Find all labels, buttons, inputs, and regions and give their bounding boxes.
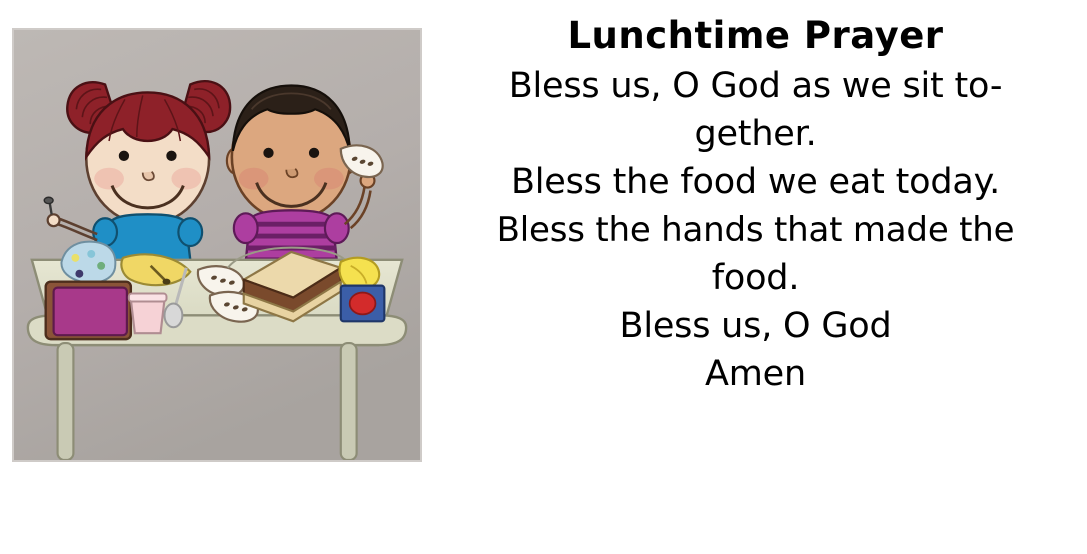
prayer-line: Bless us, O God as we sit to- [426,62,1085,110]
prayer-line: Bless the food we eat today. [426,158,1085,206]
prayer-line: Amen [426,350,1085,398]
prayer-line: Bless us, O God [426,302,1085,350]
two-children-at-lunch-table-illustration [14,30,420,460]
prayer-text-column: Lunchtime Prayer Bless us, O God as we s… [424,0,1087,554]
prayer-line: food. [426,254,1085,302]
prayer-lines: Bless us, O God as we sit to- gether. Bl… [426,62,1085,398]
page-title: Lunchtime Prayer [426,14,1085,58]
illustration-panel [12,28,422,462]
prayer-line: gether. [426,110,1085,158]
prayer-line: Bless the hands that made the [426,206,1085,254]
